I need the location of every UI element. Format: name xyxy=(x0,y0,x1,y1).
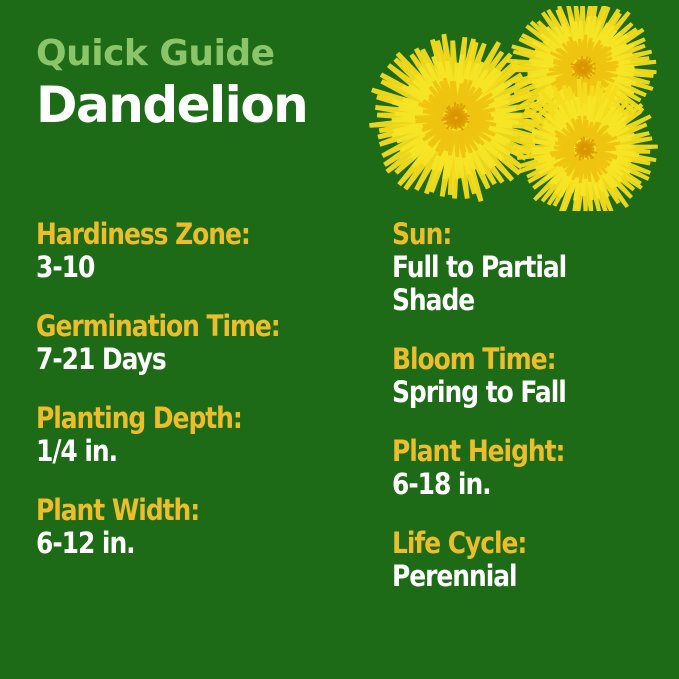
fact-value: 6-18 in. xyxy=(392,468,624,501)
fact-hardiness-zone: Hardiness Zone: 3-10 xyxy=(36,218,376,284)
fact-value: Full to Partial Shade xyxy=(392,251,624,317)
dandelion-flowers-image xyxy=(352,6,674,211)
fact-value: Perennial xyxy=(392,560,624,593)
fact-value: 6-12 in. xyxy=(36,527,328,560)
fact-life-cycle: Life Cycle: Perennial xyxy=(392,527,662,593)
fact-germination-time: Germination Time: 7-21 Days xyxy=(36,310,376,376)
page-title: Quick Guide Dandelion xyxy=(36,34,376,134)
flower-left xyxy=(369,34,540,202)
fact-value: 7-21 Days xyxy=(36,343,328,376)
fact-plant-height: Plant Height: 6-18 in. xyxy=(392,435,662,501)
fact-label: Plant Height: xyxy=(392,435,624,468)
fact-label: Plant Width: xyxy=(36,494,328,527)
fact-label: Sun: xyxy=(392,218,624,251)
guide-kicker: Quick Guide xyxy=(36,34,376,74)
fact-planting-depth: Planting Depth: 1/4 in. xyxy=(36,402,376,468)
fact-value: 1/4 in. xyxy=(36,435,328,468)
fact-plant-width: Plant Width: 6-12 in. xyxy=(36,494,376,560)
fact-bloom-time: Bloom Time: Spring to Fall xyxy=(392,343,662,409)
left-fact-column: Hardiness Zone: 3-10 Germination Time: 7… xyxy=(36,218,376,560)
right-fact-column: Sun: Full to Partial Shade Bloom Time: S… xyxy=(392,218,662,593)
flower-top-right xyxy=(507,6,657,138)
fact-value: Spring to Fall xyxy=(392,376,624,409)
quick-guide-card: Quick Guide Dandelion xyxy=(0,0,679,679)
fact-label: Hardiness Zone: xyxy=(36,218,328,251)
fact-value: 3-10 xyxy=(36,251,328,284)
fact-sun: Sun: Full to Partial Shade xyxy=(392,218,662,317)
plant-name-title: Dandelion xyxy=(36,76,376,134)
flower-bottom-right xyxy=(511,79,657,211)
fact-label: Planting Depth: xyxy=(36,402,328,435)
fact-label: Bloom Time: xyxy=(392,343,624,376)
dandelion-illustration xyxy=(352,6,674,211)
fact-label: Life Cycle: xyxy=(392,527,624,560)
fact-label: Germination Time: xyxy=(36,310,328,343)
